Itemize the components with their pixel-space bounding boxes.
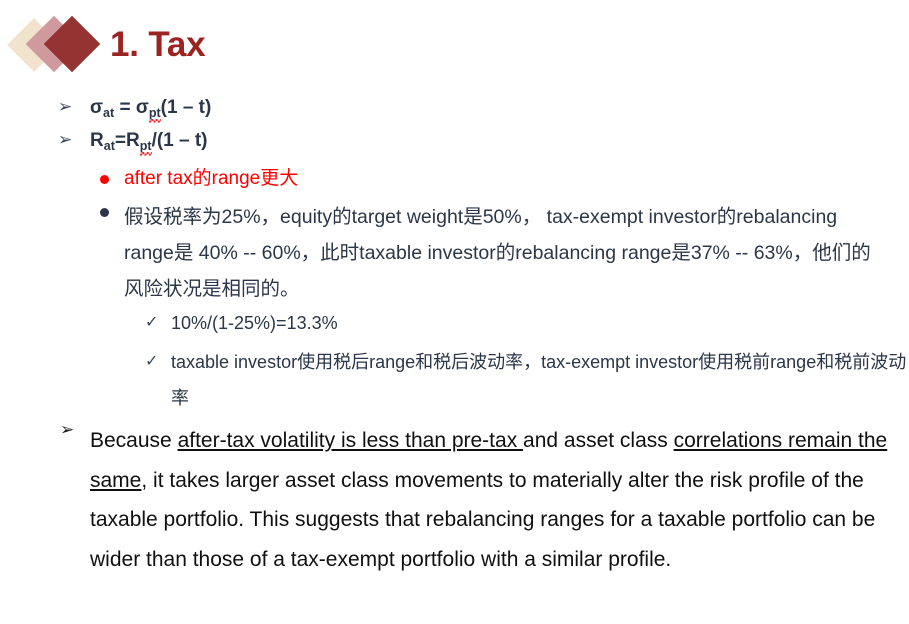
spellcheck-underline: pt <box>149 107 161 120</box>
list-item-formula-2: ➢ Rat=Rpt/(1 – t) <box>58 131 208 150</box>
sub-point-1-text: 10%/(1-25%)=13.3% <box>171 308 909 338</box>
conclusion-segment-1: after-tax volatility is less than pre-ta… <box>178 429 523 452</box>
red-note-text: after tax的range更大 <box>124 166 298 192</box>
page-title: 1. Tax <box>110 27 205 62</box>
arrow-bullet-icon: ➢ <box>58 131 90 148</box>
formula-after-tax-volatility: σat = σpt(1 – t) <box>90 98 211 117</box>
slide-title-row: 1. Tax <box>0 8 205 80</box>
conclusion-paragraph: Because after-tax volatility is less tha… <box>90 421 890 579</box>
round-bullet-glyph <box>100 175 109 184</box>
list-item-chinese-paragraph: 假设税率为25%，equity的target weight是50%， tax-e… <box>100 199 884 307</box>
formula-tail-1: (1 – t) <box>161 97 212 118</box>
conclusion-segment-0: Because <box>90 429 178 452</box>
list-item-conclusion: ➢ Because after-tax volatility is less t… <box>60 421 890 579</box>
formula-r-at: Rat <box>90 130 115 151</box>
chinese-paragraph-text: 假设税率为25%，equity的target weight是50%， tax-e… <box>124 199 884 307</box>
check-bullet-icon: ✓ <box>145 308 171 338</box>
list-item-red-note: after tax的range更大 <box>100 166 298 192</box>
formula-equals: = <box>119 97 135 118</box>
title-diamond-decoration-icon <box>12 13 104 75</box>
formula-after-tax-return: Rat=Rpt/(1 – t) <box>90 131 208 150</box>
formula-tail-2: /(1 – t) <box>152 130 208 151</box>
arrow-bullet-icon: ➢ <box>58 98 90 115</box>
formula-sigma-pt: σpt <box>136 97 161 118</box>
list-item-formula-1: ➢ σat = σpt(1 – t) <box>58 98 211 117</box>
formula-equals-2: = <box>115 130 126 151</box>
formula-sigma-at: σat <box>90 97 114 118</box>
round-bullet-glyph <box>100 208 109 217</box>
round-bullet-icon <box>100 166 124 192</box>
check-bullet-icon: ✓ <box>145 344 171 380</box>
formula-r-pt: Rpt <box>126 130 152 151</box>
list-item-sub-point-1: ✓ 10%/(1-25%)=13.3% <box>145 308 909 338</box>
list-item-sub-point-2: ✓ taxable investor使用税后range和税后波动率，tax-ex… <box>145 344 909 416</box>
round-bullet-icon <box>100 199 124 225</box>
arrow-bullet-icon: ➢ <box>60 421 90 440</box>
conclusion-segment-4: , it takes larger asset class movements … <box>90 469 875 571</box>
conclusion-segment-2: and asset class <box>523 429 674 452</box>
sub-point-2-text: taxable investor使用税后range和税后波动率，tax-exem… <box>171 344 909 416</box>
spellcheck-underline: pt <box>140 140 152 153</box>
